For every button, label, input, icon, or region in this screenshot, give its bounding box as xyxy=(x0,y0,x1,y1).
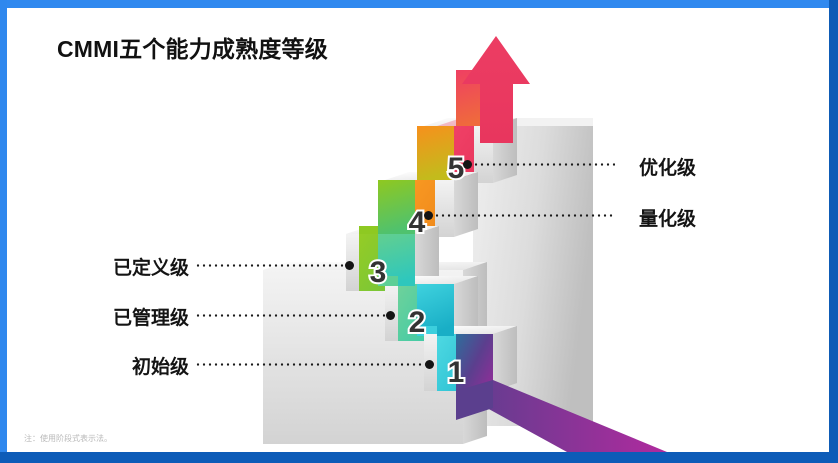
frame-border-bottom xyxy=(0,452,838,463)
step-number-5: 5 xyxy=(448,152,465,185)
frame-border-right xyxy=(829,0,838,463)
label-optimizing: 优化级 xyxy=(639,153,696,180)
label-defined: 已定义级 xyxy=(92,253,189,280)
label-initial: 初始级 xyxy=(92,352,189,379)
connector-line-5 xyxy=(473,163,615,166)
footnote: 注：使用阶段式表示法。 xyxy=(24,433,112,444)
connector-line-4 xyxy=(434,214,615,217)
connector-dot-5 xyxy=(463,160,472,169)
label-managed: 已管理级 xyxy=(92,303,189,330)
connector-dot-4 xyxy=(424,211,433,220)
step-number-3: 3 xyxy=(370,256,387,289)
step-number-1: 1 xyxy=(448,356,465,389)
step-number-2: 2 xyxy=(409,306,426,339)
frame-border-top xyxy=(0,0,838,8)
connector-line-2 xyxy=(195,314,388,317)
label-quantitative: 量化级 xyxy=(639,204,696,231)
staircase-diagram: 5 4 3 2 1 xyxy=(7,8,829,452)
step-number-4: 4 xyxy=(409,206,426,239)
connector-line-3 xyxy=(195,264,347,267)
connector-line-1 xyxy=(195,363,427,366)
slide-canvas: CMMI五个能力成熟度等级 xyxy=(7,8,829,452)
slide-frame: CMMI五个能力成熟度等级 xyxy=(0,0,838,463)
frame-border-left xyxy=(0,0,7,463)
